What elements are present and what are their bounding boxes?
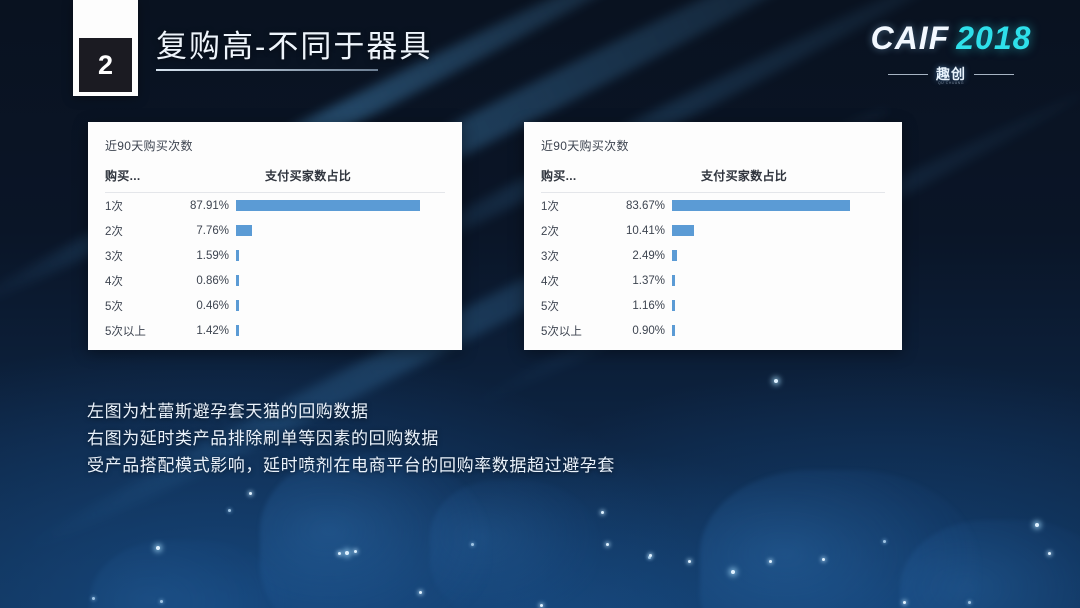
- chart-bar: [236, 300, 239, 311]
- body-line-2: 右图为延时类产品排除刷单等因素的回购数据: [87, 425, 615, 452]
- chart-row-value: 1.37%: [603, 275, 672, 287]
- chart-row-category: 1次: [105, 198, 167, 214]
- chart-row: 4次1.37%: [541, 268, 885, 293]
- chart-row-category: 3次: [541, 248, 603, 264]
- chart-header-row: 购买... 支付买家数占比: [105, 167, 462, 184]
- chart-row-value: 0.46%: [167, 300, 236, 312]
- chart-bar-track: [672, 300, 885, 311]
- chart-row-category: 5次: [541, 298, 603, 314]
- title-underline: [156, 69, 378, 71]
- chart-bar: [236, 200, 420, 211]
- chart-row: 4次0.86%: [105, 268, 445, 293]
- chart-row-value: 1.16%: [603, 300, 672, 312]
- chart-row: 1次83.67%: [541, 193, 885, 218]
- chart-row: 5次以上1.42%: [105, 318, 445, 343]
- body-line-1: 左图为杜蕾斯避孕套天猫的回购数据: [87, 398, 615, 425]
- chart-row: 2次10.41%: [541, 218, 885, 243]
- chart-title: 近90天购买次数: [541, 137, 902, 154]
- chart-row: 5次0.46%: [105, 293, 445, 318]
- left-chart-card: 近90天购买次数 购买... 支付买家数占比 1次87.91%2次7.76%3次…: [88, 122, 462, 350]
- chart-bar-track: [672, 250, 885, 261]
- logo-brand-text: CAIF: [871, 20, 950, 56]
- chart-row-value: 83.67%: [603, 200, 672, 212]
- chart-bar: [672, 200, 850, 211]
- chart-row-category: 3次: [105, 248, 167, 264]
- chart-row-value: 1.59%: [167, 250, 236, 262]
- body-text-block: 左图为杜蕾斯避孕套天猫的回购数据 右图为延时类产品排除刷单等因素的回购数据 受产…: [87, 398, 615, 479]
- chart-row-category: 5次: [105, 298, 167, 314]
- logo-wordmark: CAIF2018: [856, 22, 1046, 54]
- chart-rows: 1次83.67%2次10.41%3次2.49%4次1.37%5次1.16%5次以…: [541, 193, 885, 343]
- chart-row-value: 7.76%: [167, 225, 236, 237]
- chart-bar-track: [236, 250, 445, 261]
- chart-row-value: 1.42%: [167, 325, 236, 337]
- slide: 2 复购高-不同于器具 CAIF2018 趣创 QU CHUANG 近90天购买…: [0, 0, 1080, 608]
- chart-row-value: 87.91%: [167, 200, 236, 212]
- event-logo: CAIF2018 趣创 QU CHUANG: [856, 22, 1046, 85]
- chart-bar: [672, 225, 694, 236]
- logo-tagline: QU CHUANG: [856, 81, 1046, 85]
- chart-bar: [672, 275, 675, 286]
- chart-row-value: 10.41%: [603, 225, 672, 237]
- chart-row-category: 4次: [105, 273, 167, 289]
- chart-row-category: 2次: [541, 223, 603, 239]
- logo-cn-text: 趣创: [936, 67, 966, 81]
- chart-bar-track: [672, 200, 885, 211]
- column-header-category: 购买...: [541, 167, 601, 184]
- chart-row-value: 0.86%: [167, 275, 236, 287]
- chart-row-category: 5次以上: [105, 323, 167, 339]
- chart-bar-track: [236, 325, 445, 336]
- chart-header-row: 购买... 支付买家数占比: [541, 167, 902, 184]
- chart-bar-track: [672, 225, 885, 236]
- slide-number-box: 2: [79, 38, 132, 92]
- chart-bar: [672, 300, 675, 311]
- logo-divider-left: [888, 74, 928, 75]
- slide-number: 2: [98, 52, 113, 79]
- chart-row: 3次1.59%: [105, 243, 445, 268]
- body-line-3: 受产品搭配模式影响，延时喷剂在电商平台的回购率数据超过避孕套: [87, 452, 615, 479]
- chart-rows: 1次87.91%2次7.76%3次1.59%4次0.86%5次0.46%5次以上…: [105, 193, 445, 343]
- chart-row: 3次2.49%: [541, 243, 885, 268]
- chart-row-value: 0.90%: [603, 325, 672, 337]
- column-header-category: 购买...: [105, 167, 165, 184]
- chart-row: 1次87.91%: [105, 193, 445, 218]
- chart-bar: [672, 250, 677, 261]
- chart-row: 5次以上0.90%: [541, 318, 885, 343]
- chart-bar-track: [236, 200, 445, 211]
- slide-number-badge: 2: [73, 0, 138, 96]
- chart-title: 近90天购买次数: [105, 137, 462, 154]
- column-header-value: 支付买家数占比: [701, 167, 787, 184]
- chart-bar: [236, 325, 239, 336]
- chart-bar: [672, 325, 675, 336]
- chart-bar-track: [236, 225, 445, 236]
- right-chart-card: 近90天购买次数 购买... 支付买家数占比 1次83.67%2次10.41%3…: [524, 122, 902, 350]
- logo-sublogo: 趣创 QU CHUANG: [856, 63, 1046, 85]
- chart-row: 5次1.16%: [541, 293, 885, 318]
- column-header-value: 支付买家数占比: [265, 167, 351, 184]
- chart-bar-track: [236, 300, 445, 311]
- chart-row-category: 4次: [541, 273, 603, 289]
- chart-row-value: 2.49%: [603, 250, 672, 262]
- chart-bar: [236, 250, 239, 261]
- chart-row-category: 1次: [541, 198, 603, 214]
- chart-bar: [236, 225, 252, 236]
- chart-row-category: 2次: [105, 223, 167, 239]
- chart-row: 2次7.76%: [105, 218, 445, 243]
- chart-bar-track: [672, 275, 885, 286]
- chart-bar-track: [672, 325, 885, 336]
- chart-bar: [236, 275, 239, 286]
- chart-bar-track: [236, 275, 445, 286]
- logo-year-text: 2018: [956, 20, 1031, 56]
- chart-row-category: 5次以上: [541, 323, 603, 339]
- logo-divider-right: [974, 74, 1014, 75]
- page-title: 复购高-不同于器具: [156, 21, 432, 66]
